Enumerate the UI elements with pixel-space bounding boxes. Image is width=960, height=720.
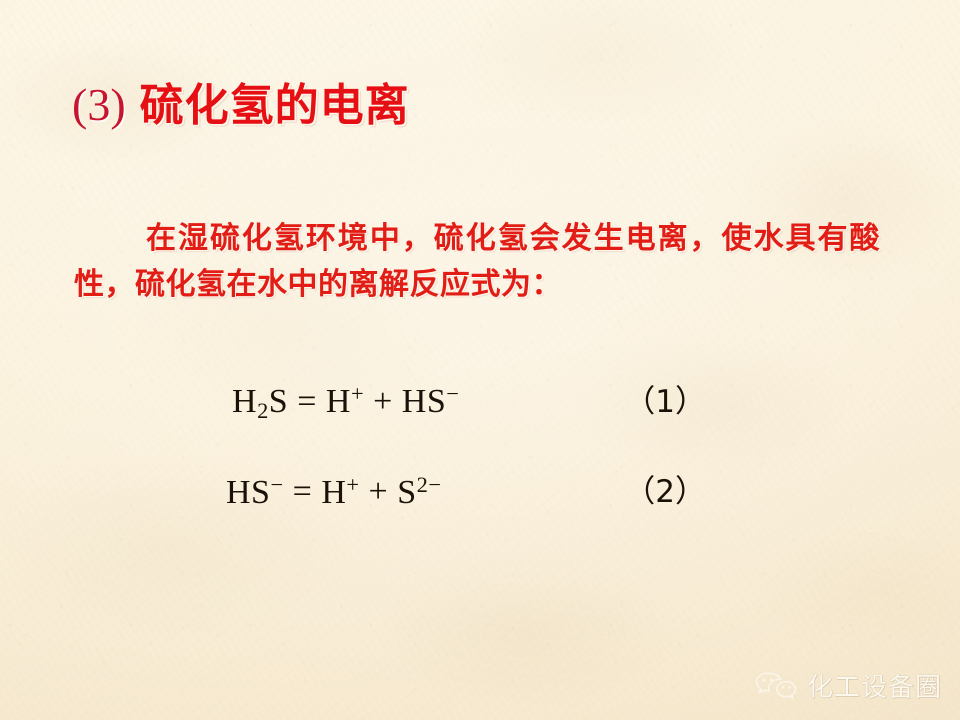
equation-1-reactant-H: H [232, 383, 257, 420]
equation-1-reactant-S: S [269, 383, 288, 420]
equation-2-reactant-HS: HS [226, 473, 270, 510]
equation-1-label: （1） [624, 376, 712, 421]
equation-1-equals: = [288, 383, 326, 420]
equation-2-formula: HS−=H++S2− [226, 472, 442, 512]
equation-2-product-H-charge: + [346, 472, 359, 497]
equation-2-label: （2） [624, 466, 712, 511]
page-title: (3)硫化氢的电离 [72, 82, 410, 128]
equation-2-product-H: H [321, 473, 346, 510]
watermark: 化工设备圈 [754, 667, 942, 704]
equation-2-product-S-charge: 2− [417, 472, 442, 497]
equation-block: H2S=H++HS− （1） HS−=H++S2− （2） [232, 376, 712, 511]
equation-1-reactant-sub: 2 [257, 398, 269, 423]
page-title-text: 硫化氢的电离 [140, 80, 410, 131]
slide-content: (3)硫化氢的电离 在湿硫化氢环境中，硫化氢会发生电离，使水具有酸性，硫化氢在水… [0, 0, 960, 720]
slide-canvas: (3)硫化氢的电离 在湿硫化氢环境中，硫化氢会发生电离，使水具有酸性，硫化氢在水… [0, 0, 960, 720]
equation-1-product-HS: HS [402, 383, 446, 420]
watermark-text: 化工设备圈 [807, 667, 942, 704]
equation-1-product-H-charge: + [351, 381, 364, 406]
body-paragraph: 在湿硫化氢环境中，硫化氢会发生电离，使水具有酸性，硫化氢在水中的离解反应式为： [74, 216, 880, 308]
equation-2-product-S: S [397, 473, 416, 510]
equation-1-formula: H2S=H++HS− [232, 381, 459, 424]
equation-2-reactant-charge: − [270, 472, 283, 497]
equation-row-1: H2S=H++HS− （1） [232, 376, 712, 424]
equation-1-product-HS-charge: − [446, 381, 459, 406]
equation-1-product-H: H [326, 383, 351, 420]
page-title-number: (3) [72, 79, 126, 130]
equation-1-plus: + [364, 383, 402, 420]
equation-2-plus: + [360, 473, 398, 510]
equation-2-equals: = [284, 473, 322, 510]
wechat-icon [754, 670, 798, 702]
equation-row-2: HS−=H++S2− （2） [232, 466, 712, 511]
